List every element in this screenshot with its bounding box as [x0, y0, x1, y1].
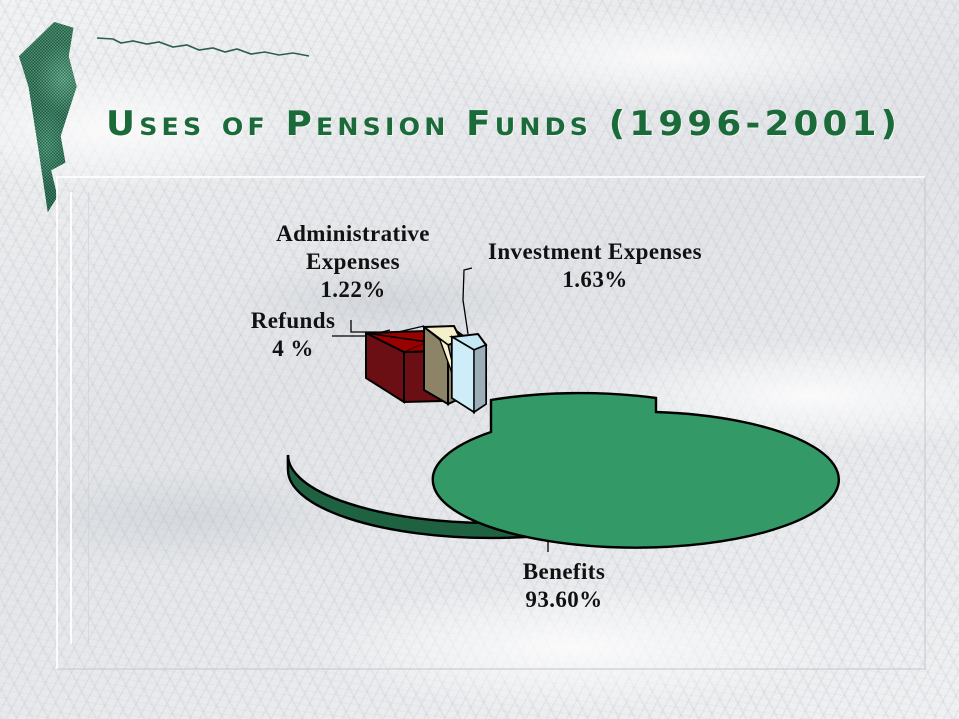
label-investment-expenses: Investment Expenses 1.63%	[470, 238, 720, 294]
label-refunds-value: 4 %	[232, 335, 354, 363]
presentation-slide: Uses of Pension Funds (1996-2001)	[0, 0, 959, 719]
label-refunds: Refunds 4 %	[232, 307, 354, 363]
pie-slice-investment[interactable]	[452, 334, 486, 412]
label-benefits-value: 93.60%	[474, 586, 654, 614]
label-investment-value: 1.63%	[470, 266, 720, 294]
pie-slice-benefits[interactable]	[288, 393, 839, 548]
label-benefits: Benefits 93.60%	[474, 558, 654, 614]
label-administrative-line1: Administrative	[248, 220, 458, 248]
label-refunds-line1: Refunds	[232, 307, 354, 335]
label-administrative-expenses: Administrative Expenses 1.22%	[248, 220, 458, 304]
label-benefits-line1: Benefits	[474, 558, 654, 586]
label-investment-line1: Investment Expenses	[470, 238, 720, 266]
label-administrative-value: 1.22%	[248, 276, 458, 304]
label-administrative-line2: Expenses	[248, 248, 458, 276]
